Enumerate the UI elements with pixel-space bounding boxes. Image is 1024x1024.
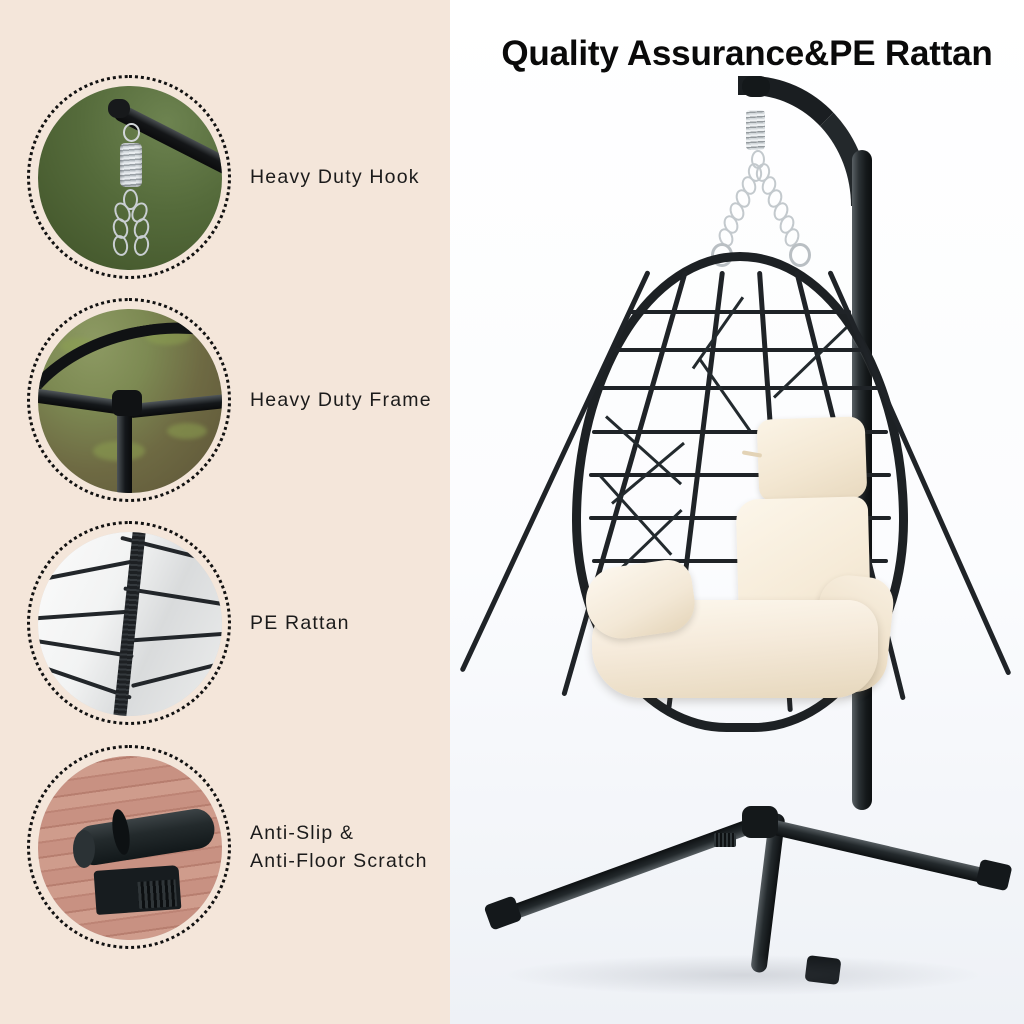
grip-teeth-shape	[138, 879, 177, 909]
anti-slip-foot-cap-photo	[38, 756, 222, 940]
feature-thumb-dotted-ring	[27, 745, 231, 949]
hanging-spring	[746, 110, 765, 150]
stand-hook-nub	[742, 76, 770, 97]
bar-end-cap-shape	[108, 99, 130, 118]
leg-tube-end-shape	[73, 830, 95, 868]
feature-label: Anti-Slip & Anti-Floor Scratch	[250, 745, 446, 949]
feature-label: PE Rattan	[250, 521, 446, 725]
feature-item-pe-rattan: PE Rattan	[0, 521, 450, 736]
feature-label: Heavy Duty Hook	[250, 75, 446, 279]
feature-item-heavy-duty-frame: Heavy Duty Frame	[0, 298, 450, 513]
rattan-strand-shape	[112, 532, 146, 716]
spring-shape	[120, 143, 142, 187]
center-grip-teeth	[714, 833, 736, 847]
product-infographic: Heavy Duty Hook	[0, 0, 1024, 1024]
feature-thumb-dotted-ring	[27, 521, 231, 725]
base-center-hub	[742, 806, 778, 838]
page-title: Quality Assurance&PE Rattan	[470, 34, 1024, 74]
anti-slip-pad-shape	[94, 865, 181, 915]
feature-item-anti-slip: Anti-Slip & Anti-Floor Scratch	[0, 745, 450, 960]
hook-eyelet-shape	[123, 123, 140, 142]
head-pillow	[757, 416, 868, 502]
pe-rattan-weave-photo	[38, 532, 222, 716]
feature-item-heavy-duty-hook: Heavy Duty Hook	[0, 75, 450, 290]
frame-joint-hub-shape	[112, 390, 142, 416]
feature-thumb-dotted-ring	[27, 75, 231, 279]
hook-with-spring-photo	[38, 86, 222, 270]
chain-link-shape	[132, 234, 150, 257]
floor-shadow	[508, 955, 978, 995]
chain-link-shape	[112, 234, 130, 257]
feature-label: Heavy Duty Frame	[250, 298, 446, 502]
feature-thumb-dotted-ring	[27, 298, 231, 502]
feature-panel: Heavy Duty Hook	[0, 0, 450, 1024]
leg-tube-shape	[73, 806, 217, 867]
frame-cross-joint-photo	[38, 309, 222, 493]
